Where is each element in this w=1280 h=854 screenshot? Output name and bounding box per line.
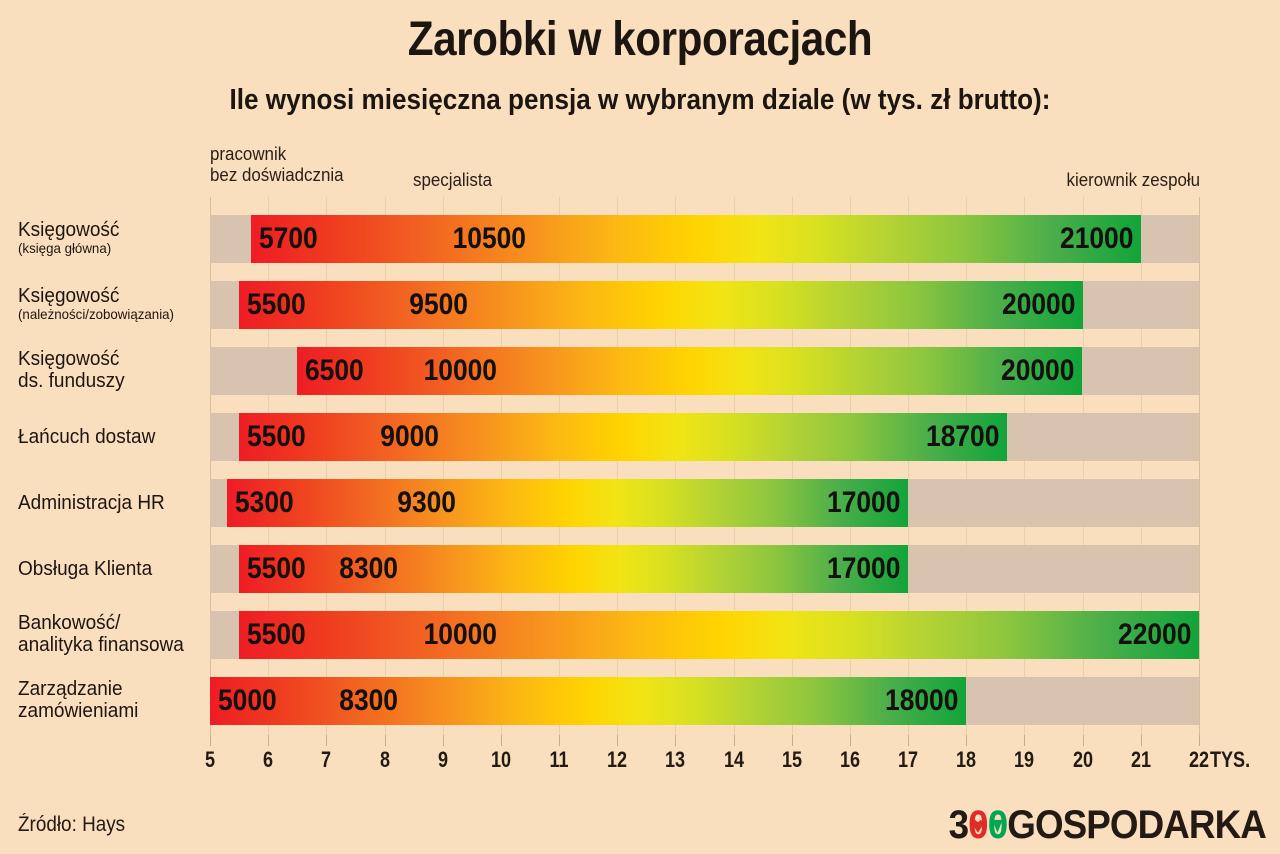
- bar-value-min: 5300: [235, 486, 294, 520]
- axis-tick: [326, 735, 327, 746]
- row-label-sub: zamówieniami: [18, 700, 195, 722]
- bar-value-max: 17000: [827, 552, 900, 586]
- column-header-junior: pracownik bez doświadcznia: [210, 144, 344, 185]
- bar-value-min: 6500: [305, 354, 364, 388]
- gridline: [1199, 197, 1200, 735]
- row-label-main: Księgowość: [18, 285, 195, 307]
- bar-value-mid: 10500: [453, 222, 526, 256]
- salary-range-bar: 65001000020000: [297, 347, 1082, 395]
- axis-tick-label: 20: [1073, 747, 1093, 773]
- axis-tick: [1199, 735, 1200, 746]
- axis-tick-label: 9: [438, 747, 448, 773]
- row-label: Księgowość(należności/zobowiązania): [18, 285, 204, 323]
- salary-range-bar: 5000830018000: [210, 677, 966, 725]
- bar-value-min: 5500: [247, 552, 306, 586]
- bar-value-max: 17000: [827, 486, 900, 520]
- row-label-sub: (księga główna): [18, 241, 195, 257]
- bar-value-min: 5500: [247, 288, 306, 322]
- axis-tick-label: 22: [1189, 747, 1209, 773]
- axis-tick-label: 19: [1014, 747, 1034, 773]
- axis-tick: [1141, 735, 1142, 746]
- axis-tick-label: 17: [898, 747, 918, 773]
- row-label-sub: analityka finansowa: [18, 634, 195, 656]
- infographic-root: Zarobki w korporacjach Ile wynosi miesię…: [0, 0, 1280, 854]
- column-header-specialist: specjalista: [413, 170, 492, 191]
- axis-tick: [1024, 735, 1025, 746]
- row-label-main: Obsługa Klienta: [18, 558, 195, 580]
- axis-tick-label: 15: [782, 747, 802, 773]
- bar-value-max: 22000: [1118, 618, 1191, 652]
- salary-range-bar: 5500900018700: [239, 413, 1007, 461]
- row-label-main: Zarządzanie: [18, 678, 195, 700]
- source-note: Źródło: Hays: [18, 813, 125, 837]
- axis-tick: [385, 735, 386, 746]
- salary-range-bar: 55001000022000: [239, 611, 1199, 659]
- row-label-main: Księgowość: [18, 348, 195, 370]
- bar-value-min: 5500: [247, 618, 306, 652]
- page-title: Zarobki w korporacjach: [77, 12, 1203, 67]
- column-header-junior-line2: bez doświadcznia: [210, 165, 344, 185]
- row-label-sub: ds. funduszy: [18, 370, 195, 392]
- logo-text-gospodarka: GOSPODARKA: [1007, 803, 1266, 848]
- axis-tick: [617, 735, 618, 746]
- axis-tick: [501, 735, 502, 746]
- logo-zero-green: 0: [988, 803, 1008, 848]
- axis-tick-label: 21: [1131, 747, 1151, 773]
- bar-value-max: 20000: [1002, 288, 1075, 322]
- bar-value-mid: 8300: [339, 552, 398, 586]
- bar-value-mid: 10000: [424, 618, 497, 652]
- row-label: Administracja HR: [18, 492, 204, 514]
- bar-value-min: 5500: [247, 420, 306, 454]
- bar-value-max: 18700: [926, 420, 999, 454]
- salary-range-bar: 57001050021000: [251, 215, 1141, 263]
- row-label: Księgowość(księga główna): [18, 219, 204, 257]
- salary-range-bar: 5300930017000: [227, 479, 908, 527]
- bar-value-min: 5000: [218, 684, 277, 718]
- row-label-main: Księgowość: [18, 219, 195, 241]
- axis-tick-label: 16: [840, 747, 860, 773]
- bar-value-max: 18000: [885, 684, 958, 718]
- axis-tick: [1083, 735, 1084, 746]
- salary-range-bar: 5500830017000: [239, 545, 908, 593]
- bar-value-min: 5700: [259, 222, 318, 256]
- chart-plot-area: 5700105002100055009500200006500100002000…: [210, 197, 1199, 735]
- axis-tick-label: 18: [956, 747, 976, 773]
- row-label-main: Bankowość/: [18, 612, 195, 634]
- axis-tick: [850, 735, 851, 746]
- axis-tick: [792, 735, 793, 746]
- logo-zero-red: 0: [968, 803, 988, 848]
- bar-value-mid: 9500: [409, 288, 468, 322]
- axis-tick: [966, 735, 967, 746]
- salary-range-bar: 5500950020000: [239, 281, 1083, 329]
- row-label: Bankowość/analityka finansowa: [18, 612, 204, 657]
- row-label: Obsługa Klienta: [18, 558, 204, 580]
- axis-tick: [268, 735, 269, 746]
- bar-value-mid: 9000: [380, 420, 439, 454]
- axis-tick-label: 8: [380, 747, 390, 773]
- axis-tick: [559, 735, 560, 746]
- row-label-sub: (należności/zobowiązania): [18, 307, 195, 323]
- axis-tick-label: 5: [205, 747, 215, 773]
- axis-tick: [210, 735, 211, 746]
- row-label-main: Administracja HR: [18, 492, 195, 514]
- bar-value-max: 21000: [1060, 222, 1133, 256]
- row-label-main: Łańcuch dostaw: [18, 426, 195, 448]
- axis-tick: [734, 735, 735, 746]
- axis-tick-label: 14: [724, 747, 744, 773]
- bar-value-mid: 10000: [424, 354, 497, 388]
- brand-logo: 300GOSPODARKA: [949, 803, 1266, 848]
- axis-tick-label: 12: [607, 747, 627, 773]
- column-header-lead: kierownik zespołu: [1066, 170, 1200, 191]
- x-axis: 5678910111213141516171819202122: [210, 735, 1199, 777]
- axis-tick-label: 7: [321, 747, 331, 773]
- axis-tick-label: 13: [665, 747, 685, 773]
- bar-value-mid: 9300: [397, 486, 456, 520]
- row-label: Zarządzaniezamówieniami: [18, 678, 204, 723]
- axis-tick-label: 6: [263, 747, 273, 773]
- axis-tick: [443, 735, 444, 746]
- axis-tick-label: 10: [491, 747, 511, 773]
- axis-tick: [675, 735, 676, 746]
- logo-text-3: 3: [949, 803, 969, 848]
- bar-value-max: 20000: [1001, 354, 1074, 388]
- axis-tick-label: 11: [549, 747, 568, 773]
- bar-value-mid: 8300: [339, 684, 398, 718]
- page-subtitle: Ile wynosi miesięczna pensja w wybranym …: [64, 84, 1216, 117]
- row-label: Łańcuch dostaw: [18, 426, 204, 448]
- column-header-junior-line1: pracownik: [210, 144, 286, 164]
- x-axis-unit-label: TYS.: [1210, 747, 1250, 773]
- axis-tick: [908, 735, 909, 746]
- row-label: Księgowośćds. funduszy: [18, 348, 204, 393]
